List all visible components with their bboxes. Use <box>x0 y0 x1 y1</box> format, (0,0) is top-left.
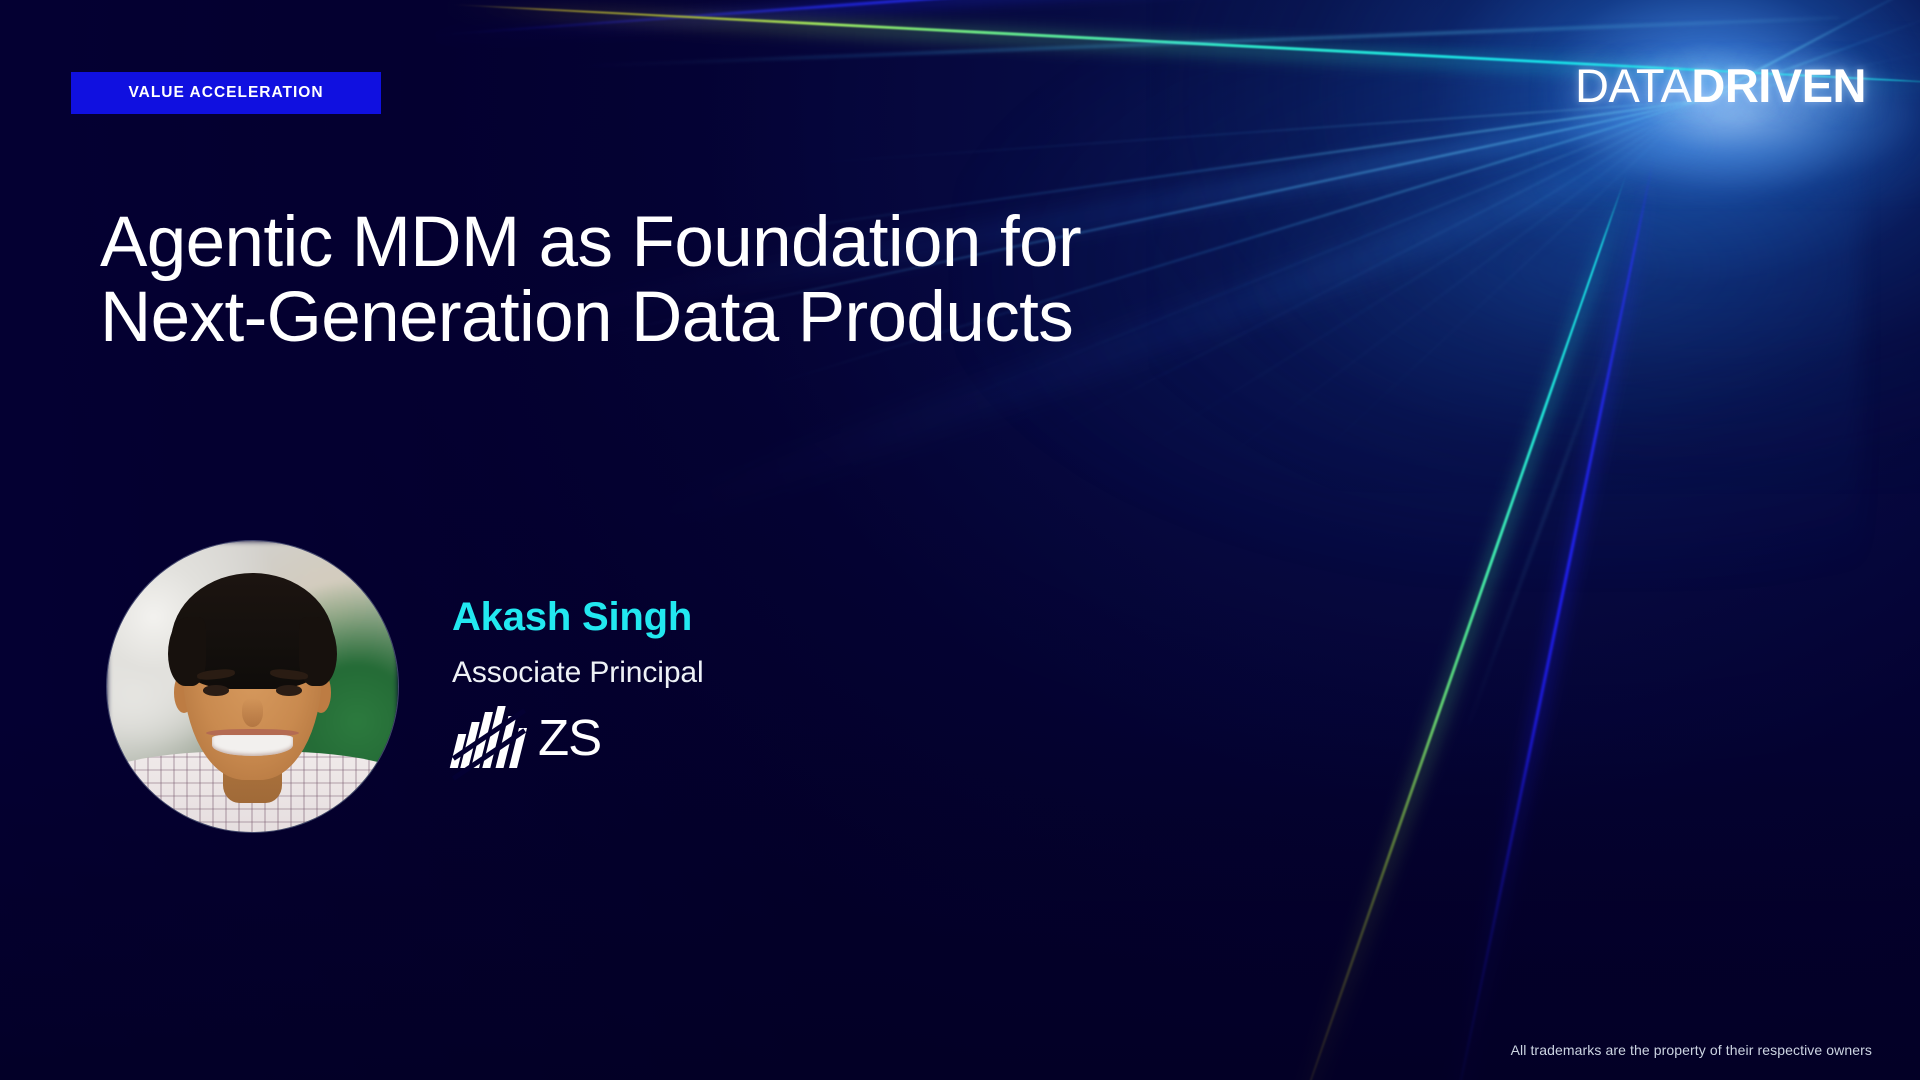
slide-title-line-1: Agentic MDM as Foundation for <box>100 206 1300 281</box>
streak-blue-diagonal <box>1447 151 1656 1080</box>
slide-title-line-2: Next-Generation Data Products <box>100 281 1300 356</box>
zs-mark-icon <box>452 706 524 768</box>
avatar-photo <box>107 541 398 832</box>
light-ray <box>802 100 1700 164</box>
value-acceleration-badge: VALUE ACCELERATION <box>71 72 381 114</box>
streak-faint-diagonal <box>1468 330 1613 725</box>
zs-company-logo: ZS <box>452 706 601 768</box>
background-left-fade <box>0 0 820 1080</box>
background-decoration <box>0 0 1920 1080</box>
background-glow-core <box>1540 30 1920 200</box>
photo-nose <box>242 698 262 727</box>
datadriven-logo: DATADRIVEN <box>1575 62 1866 109</box>
light-ray <box>1290 100 1700 483</box>
badge-label: VALUE ACCELERATION <box>128 84 323 102</box>
logo-light-text: DATA <box>1575 59 1691 112</box>
background-glow-wash <box>420 0 1920 1080</box>
speaker-avatar <box>107 541 398 832</box>
slide-title: Agentic MDM as Foundation for Next-Gener… <box>100 206 1300 355</box>
streak-blue-top <box>430 0 1920 37</box>
streak-blue-top-glow <box>420 0 1920 45</box>
trademark-disclaimer: All trademarks are the property of their… <box>1511 1042 1872 1058</box>
streak-spectrum-diagonal <box>1260 171 1628 1080</box>
background-vignette <box>0 0 1920 1080</box>
speaker-role: Associate Principal <box>452 656 704 690</box>
speaker-name: Akash Singh <box>452 595 692 640</box>
presentation-slide: VALUE ACCELERATION DATADRIVEN Agentic MD… <box>0 0 1920 1080</box>
photo-eye-right <box>276 685 302 695</box>
logo-bold-text: DRIVEN <box>1691 59 1866 112</box>
streak-blue-diagonal-glow <box>1442 155 1661 1080</box>
zs-wordmark: ZS <box>538 712 601 763</box>
photo-eye-left <box>203 685 229 695</box>
streak-spectrum-diagonal-glow <box>1255 175 1633 1080</box>
